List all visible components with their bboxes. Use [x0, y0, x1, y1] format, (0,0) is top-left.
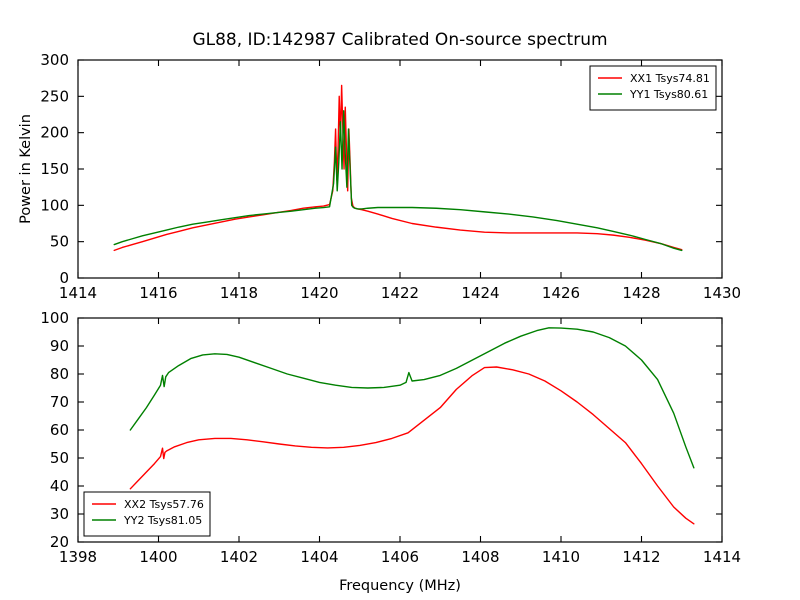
- y-tick-label: 80: [50, 365, 69, 383]
- x-tick-label: 1400: [139, 548, 177, 566]
- legend-label-yy2: YY2 Tsys81.05: [123, 514, 202, 527]
- legend: XX2 Tsys57.76YY2 Tsys81.05: [84, 492, 210, 536]
- x-tick-label: 1418: [220, 284, 258, 302]
- y-tick-label: 40: [50, 477, 69, 495]
- y-tick-label: 70: [50, 393, 69, 411]
- x-tick-label: 1410: [542, 548, 580, 566]
- x-tick-label: 1424: [461, 284, 499, 302]
- x-tick-label: 1402: [220, 548, 258, 566]
- x-tick-label: 1426: [542, 284, 580, 302]
- y-tick-label: 100: [40, 196, 69, 214]
- page-title: GL88, ID:142987 Calibrated On-source spe…: [192, 30, 607, 50]
- y-tick-label: 90: [50, 337, 69, 355]
- legend-label-yy1: YY1 Tsys80.61: [629, 88, 708, 101]
- x-tick-label: 1414: [703, 548, 741, 566]
- spectrum-figure: GL88, ID:142987 Calibrated On-source spe…: [0, 0, 800, 600]
- y-tick-label: 50: [50, 233, 69, 251]
- legend-label-xx2: XX2 Tsys57.76: [124, 498, 204, 511]
- x-tick-label: 1430: [703, 284, 741, 302]
- y-tick-label: 100: [40, 309, 69, 327]
- x-axis-label: Frequency (MHz): [339, 578, 461, 594]
- x-tick-label: 1408: [461, 548, 499, 566]
- x-tick-label: 1428: [622, 284, 660, 302]
- y-tick-label: 250: [40, 87, 69, 105]
- legend-label-xx1: XX1 Tsys74.81: [630, 72, 710, 85]
- y-tick-label: 50: [50, 449, 69, 467]
- x-tick-label: 1416: [139, 284, 177, 302]
- y-tick-label: 20: [50, 533, 69, 551]
- x-tick-label: 1406: [381, 548, 419, 566]
- y-tick-label: 30: [50, 505, 69, 523]
- y-tick-label: 150: [40, 160, 69, 178]
- x-tick-label: 1422: [381, 284, 419, 302]
- x-tick-label: 1412: [622, 548, 660, 566]
- y-tick-label: 200: [40, 124, 69, 142]
- x-tick-label: 1420: [300, 284, 338, 302]
- legend: XX1 Tsys74.81YY1 Tsys80.61: [590, 66, 716, 110]
- y-tick-label: 300: [40, 51, 69, 69]
- y-axis-label: Power in Kelvin: [18, 114, 34, 224]
- y-tick-label: 0: [59, 269, 69, 287]
- x-tick-label: 1404: [300, 548, 338, 566]
- y-tick-label: 60: [50, 421, 69, 439]
